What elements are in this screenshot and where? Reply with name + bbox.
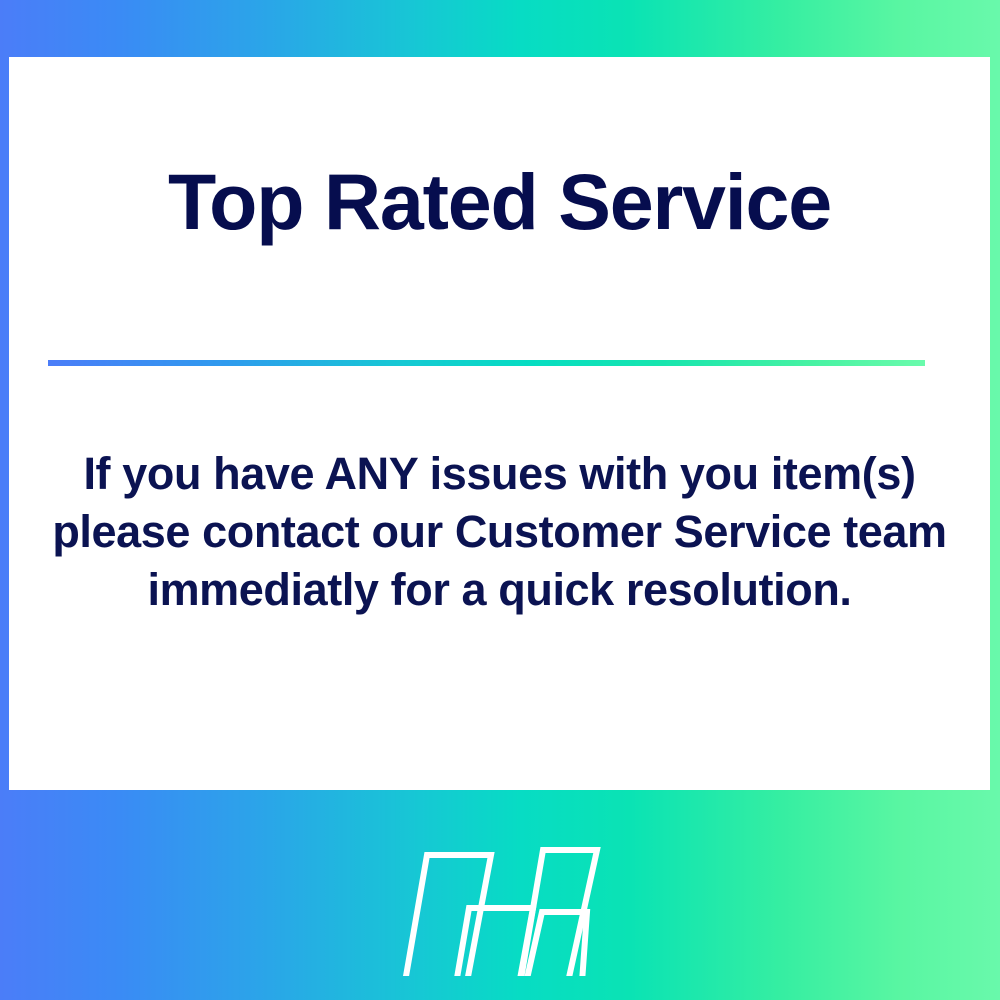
w-monogram-icon xyxy=(397,830,603,976)
content-card: Top Rated Service If you have ANY issues… xyxy=(9,57,990,790)
message-line-3: immediatly for a quick resolution. xyxy=(27,561,972,619)
page-title: Top Rated Service xyxy=(9,162,990,241)
gradient-divider xyxy=(48,360,925,366)
message-body: If you have ANY issues with you item(s) … xyxy=(27,445,972,619)
brand-logo xyxy=(0,828,1000,978)
message-line-2: please contact our Customer Service team xyxy=(27,503,972,561)
message-line-1: If you have ANY issues with you item(s) xyxy=(27,445,972,503)
